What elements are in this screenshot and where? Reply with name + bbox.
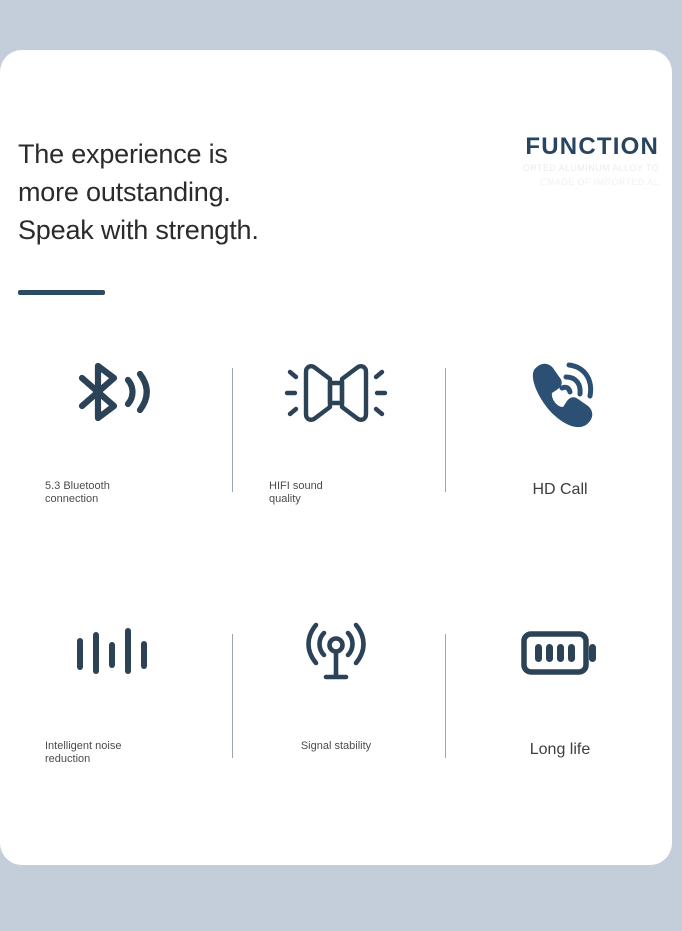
feature-label-line-1: HD Call: [490, 480, 630, 499]
phone-call-icon: [522, 350, 598, 436]
feature-item-long-life[interactable]: Long life: [448, 610, 672, 865]
feature-label-line-1: 5.3 Bluetooth: [45, 480, 185, 493]
feature-label: Long life: [490, 740, 630, 759]
feature-row-2: Intelligent noise reduction: [0, 610, 672, 865]
function-subtitle-line-1: ORTED ALUMINUM ALLOY TO: [523, 161, 659, 175]
product-feature-page: The experience is more outstanding. Spea…: [0, 0, 682, 931]
feature-item-noise-reduction[interactable]: Intelligent noise reduction: [0, 610, 224, 865]
headline-line-3: Speak with strength.: [18, 211, 418, 249]
feature-label-line-2: reduction: [45, 753, 185, 766]
feature-label-line-2: connection: [45, 493, 185, 506]
feature-label: Signal stability: [266, 740, 406, 753]
feature-label: HIFI sound quality: [263, 480, 409, 506]
function-heading-block: FUNCTION ORTED ALUMINUM ALLOY TO CMADE O…: [523, 133, 659, 189]
page-title: The experience is more outstanding. Spea…: [18, 135, 418, 249]
feature-label-line-1: HIFI sound: [269, 480, 409, 493]
feature-item-bluetooth[interactable]: 5.3 Bluetooth connection: [0, 350, 224, 610]
headline-line-2: more outstanding.: [18, 173, 418, 211]
signal-tower-icon: [302, 610, 370, 696]
feature-label: HD Call: [490, 480, 630, 499]
feature-item-signal-stability[interactable]: Signal stability: [224, 610, 448, 865]
feature-item-hifi[interactable]: HIFI sound quality: [224, 350, 448, 610]
feature-label-line-1: Signal stability: [266, 740, 406, 753]
hifi-speaker-icon: [284, 350, 388, 436]
function-title: FUNCTION: [523, 133, 659, 161]
sound-wave-icon: [72, 610, 152, 696]
feature-item-hd-call[interactable]: HD Call: [448, 350, 672, 610]
feature-grid: 5.3 Bluetooth connection: [0, 350, 672, 865]
feature-label-line-1: Long life: [490, 740, 630, 759]
function-subtitle-line-2: CMADE OF IMRORTED AL: [523, 175, 659, 189]
feature-label-line-1: Intelligent noise: [45, 740, 185, 753]
battery-icon: [520, 610, 600, 696]
headline-line-1: The experience is: [18, 135, 418, 173]
feature-label: 5.3 Bluetooth connection: [39, 480, 185, 506]
feature-row-1: 5.3 Bluetooth connection: [0, 350, 672, 610]
accent-underline: [18, 290, 105, 295]
bluetooth-icon: [70, 350, 154, 436]
feature-card: The experience is more outstanding. Spea…: [0, 50, 672, 865]
feature-label: Intelligent noise reduction: [39, 740, 185, 766]
feature-label-line-2: quality: [269, 493, 409, 506]
